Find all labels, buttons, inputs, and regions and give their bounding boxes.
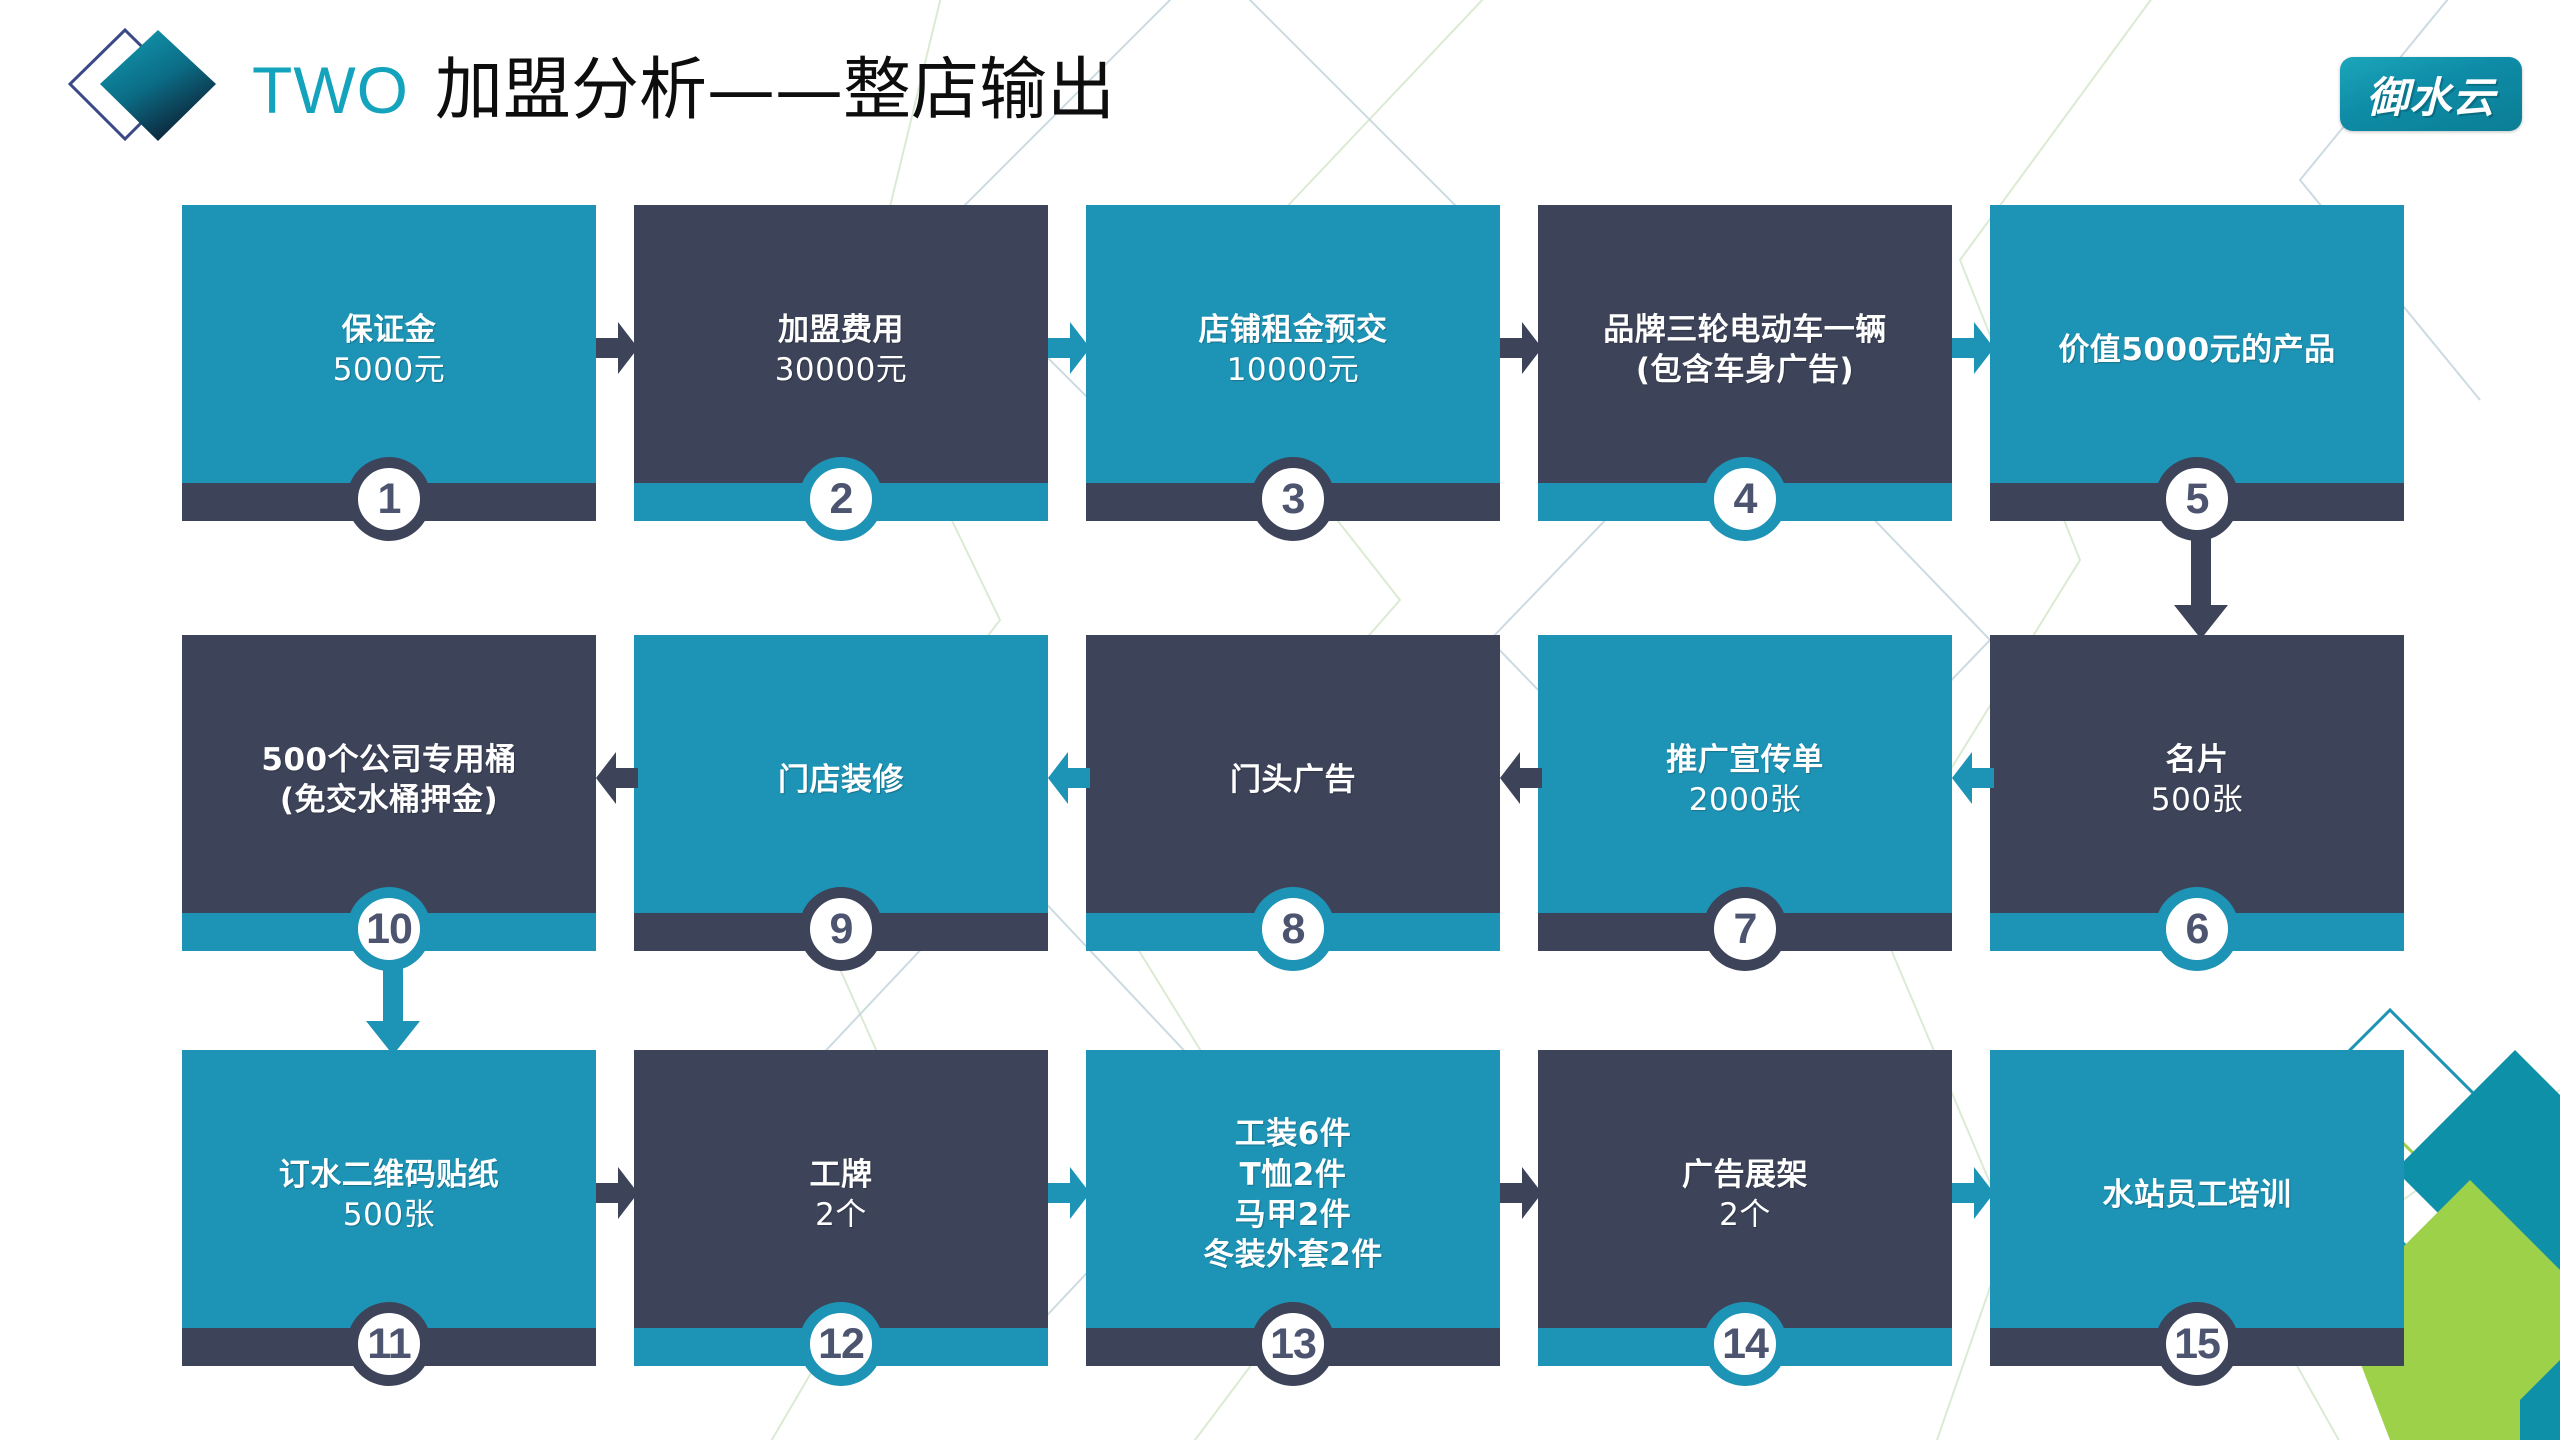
flow-node-4[interactable]: 品牌三轮电动车一辆 (包含车身广告) 4 — [1538, 205, 1952, 521]
diamond-logo-icon — [60, 22, 230, 147]
flow-node-12-label: 工牌 2个 — [810, 1155, 873, 1236]
flow-node-5-label: 价值5000元的产品 — [2058, 330, 2335, 370]
slide-canvas: TWO 加盟分析——整店输出 御水云 保证金 5000元 1 加盟 — [0, 0, 2560, 1440]
flow-node-11-badge: 11 — [347, 1302, 431, 1386]
slide-header: TWO 加盟分析——整店输出 御水云 — [0, 0, 2560, 175]
flow-node-15[interactable]: 水站员工培训 15 — [1990, 1050, 2404, 1366]
flow-node-15-badge: 15 — [2155, 1302, 2239, 1386]
flow-node-12-badge: 12 — [799, 1302, 883, 1386]
flow-node-10-badge: 10 — [347, 887, 431, 971]
brand-logo-text: 御水云 — [2366, 64, 2495, 125]
flow-node-13-label: 工装6件 T恤2件 马甲2件 冬装外套2件 — [1203, 1114, 1383, 1275]
flow-node-12[interactable]: 工牌 2个 12 — [634, 1050, 1048, 1366]
arrow-12-to-13-icon — [1048, 1163, 1090, 1223]
flow-node-14-badge: 14 — [1703, 1302, 1787, 1386]
flow-node-6-badge: 6 — [2155, 887, 2239, 971]
arrow-3-to-4-icon — [1500, 318, 1542, 378]
flow-node-5-badge: 5 — [2155, 457, 2239, 541]
yushuiyun-brand-logo: 御水云 — [2340, 57, 2522, 131]
flow-node-8-label: 门头广告 — [1230, 760, 1356, 800]
flow-node-8[interactable]: 门头广告 8 — [1086, 635, 1500, 951]
flow-node-2-label: 加盟费用 30000元 — [775, 310, 908, 391]
flow-node-1[interactable]: 保证金 5000元 1 — [182, 205, 596, 521]
arrow-6-to-7-icon — [1952, 748, 1994, 808]
flow-node-9[interactable]: 门店装修 9 — [634, 635, 1048, 951]
flow-node-7[interactable]: 推广宣传单 2000张 7 — [1538, 635, 1952, 951]
section-number: TWO — [252, 52, 409, 128]
flow-node-15-label: 水站员工培训 — [2103, 1175, 2292, 1215]
flow-node-2[interactable]: 加盟费用 30000元 2 — [634, 205, 1048, 521]
flow-node-5[interactable]: 价值5000元的产品 5 — [1990, 205, 2404, 521]
flow-node-6-label: 名片 500张 — [2151, 740, 2243, 821]
flow-node-3-label: 店铺租金预交 10000元 — [1199, 310, 1388, 391]
flow-node-4-badge: 4 — [1703, 457, 1787, 541]
arrow-4-to-5-icon — [1952, 318, 1994, 378]
flow-node-1-badge: 1 — [347, 457, 431, 541]
flow-node-14[interactable]: 广告展架 2个 14 — [1538, 1050, 1952, 1366]
arrow-13-to-14-icon — [1500, 1163, 1542, 1223]
page-title-text: 加盟分析——整店输出 — [435, 34, 1115, 133]
flow-node-11[interactable]: 订水二维码贴纸 500张 11 — [182, 1050, 596, 1366]
flow-node-7-label: 推广宣传单 2000张 — [1666, 740, 1824, 821]
flow-node-13-badge: 13 — [1251, 1302, 1335, 1386]
page-title: TWO 加盟分析——整店输出 — [252, 34, 1115, 133]
flow-node-3-badge: 3 — [1251, 457, 1335, 541]
flow-node-10-label: 500个公司专用桶 (免交水桶押金) — [261, 740, 516, 821]
arrow-2-to-3-icon — [1048, 318, 1090, 378]
flow-node-9-badge: 9 — [799, 887, 883, 971]
arrow-7-to-8-icon — [1500, 748, 1542, 808]
flow-diagram: 保证金 5000元 1 加盟费用 30000元 2 — [0, 0, 2560, 1440]
flow-node-9-label: 门店装修 — [778, 760, 904, 800]
flow-node-3[interactable]: 店铺租金预交 10000元 3 — [1086, 205, 1500, 521]
flow-node-2-badge: 2 — [799, 457, 883, 541]
flow-node-11-label: 订水二维码贴纸 500张 — [279, 1155, 500, 1236]
flow-node-4-label: 品牌三轮电动车一辆 (包含车身广告) — [1603, 310, 1887, 391]
arrow-11-to-12-icon — [596, 1163, 638, 1223]
flow-node-13[interactable]: 工装6件 T恤2件 马甲2件 冬装外套2件 13 — [1086, 1050, 1500, 1366]
flow-node-7-badge: 7 — [1703, 887, 1787, 971]
arrow-14-to-15-icon — [1952, 1163, 1994, 1223]
flow-node-1-label: 保证金 5000元 — [333, 310, 445, 391]
arrow-8-to-9-icon — [1048, 748, 1090, 808]
flow-node-14-label: 广告展架 2个 — [1682, 1155, 1808, 1236]
arrow-1-to-2-icon — [596, 318, 638, 378]
flow-node-6[interactable]: 名片 500张 6 — [1990, 635, 2404, 951]
flow-node-10[interactable]: 500个公司专用桶 (免交水桶押金) 10 — [182, 635, 596, 951]
flow-node-8-badge: 8 — [1251, 887, 1335, 971]
arrow-9-to-10-icon — [596, 748, 638, 808]
